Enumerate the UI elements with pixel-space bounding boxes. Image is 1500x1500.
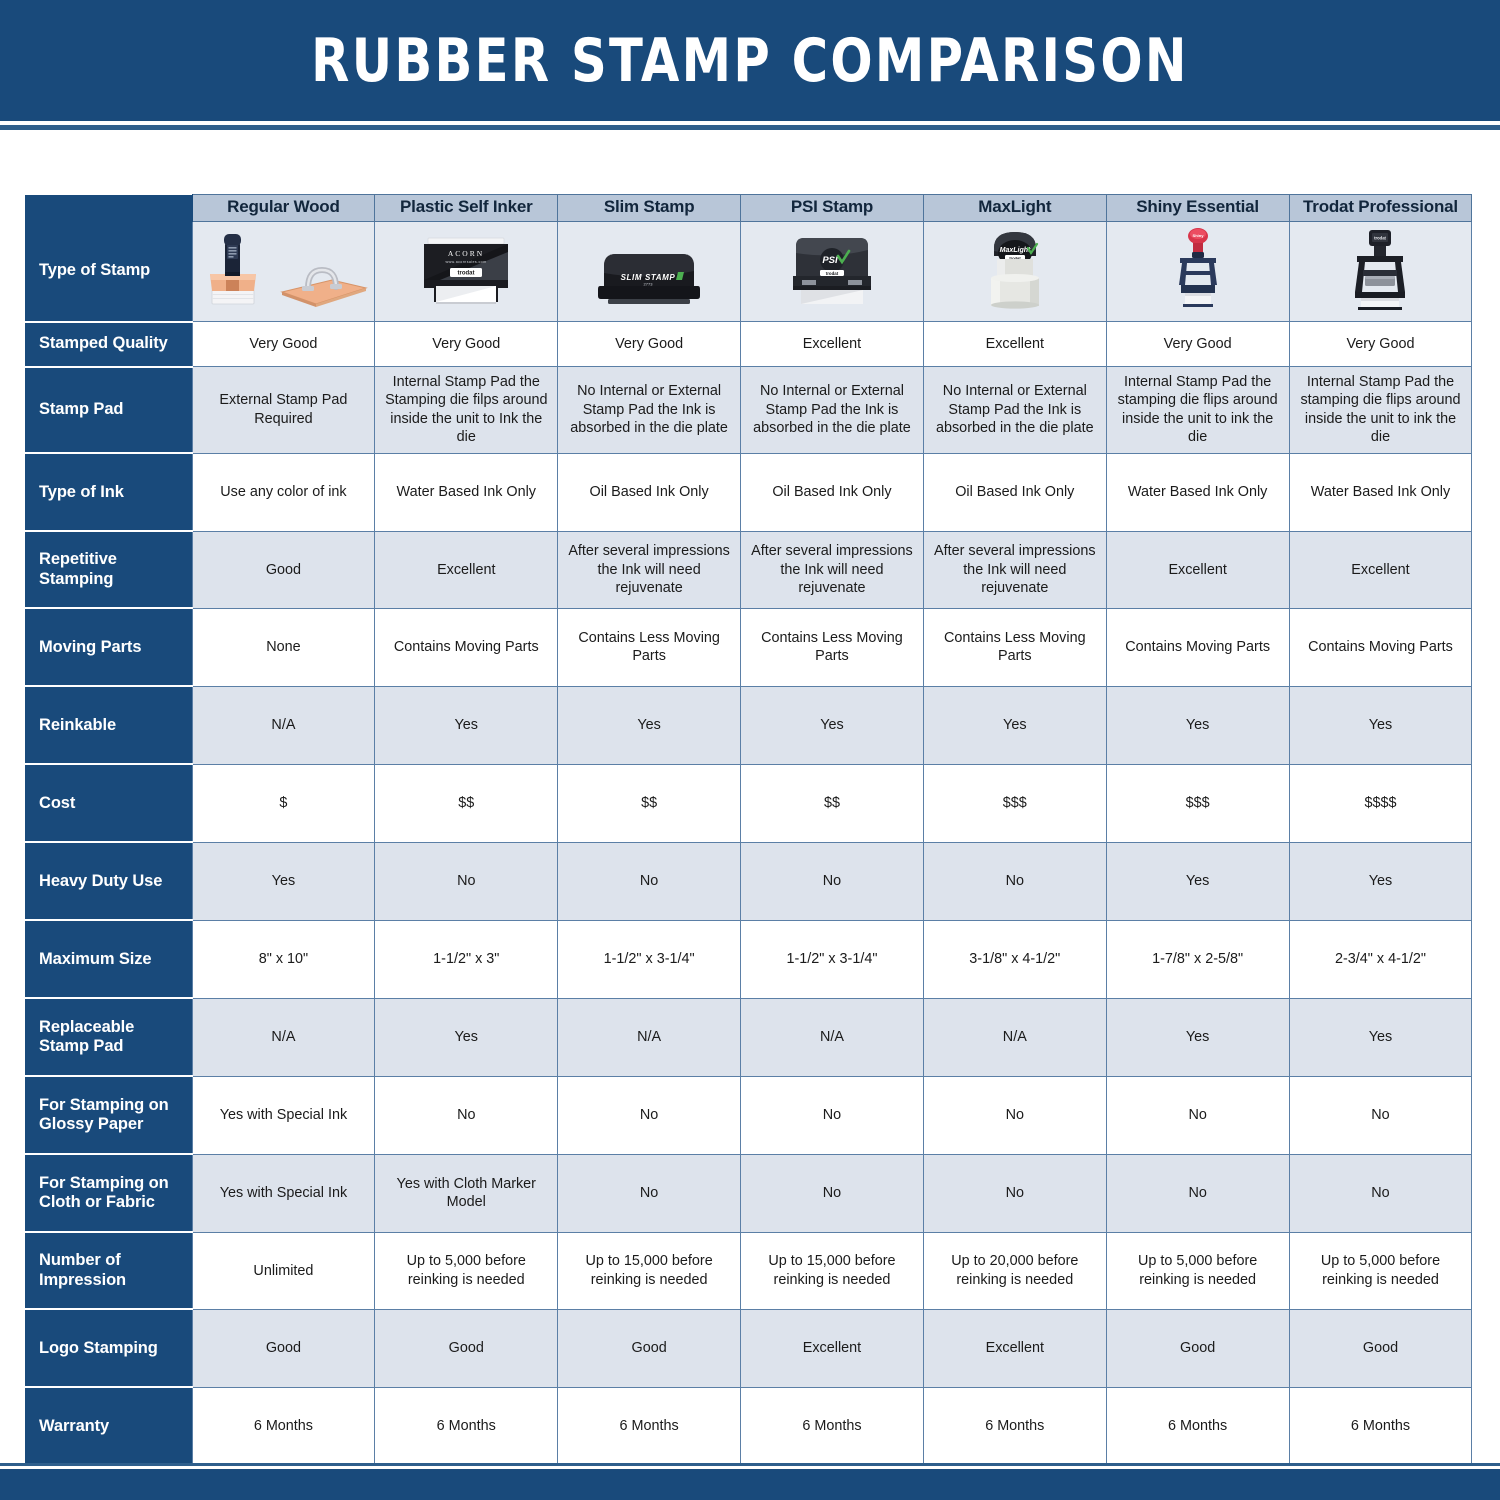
cell-logo-stamping-shiny-essential: Good: [1106, 1309, 1289, 1387]
comparison-table: Regular Wood Plastic Self Inker Slim Sta…: [25, 194, 1472, 1466]
cell-stamped-quality-psi-stamp: Excellent: [741, 322, 924, 367]
cell-warranty-regular-wood: 6 Months: [192, 1387, 375, 1465]
cell-repetitive-stamping-psi-stamp: After several impressions the Ink will n…: [741, 531, 924, 608]
slim-stamp-icon: SLIM STAMP 2773: [586, 226, 712, 312]
column-header-shiny-essential[interactable]: Shiny Essential: [1106, 195, 1289, 222]
cell-stamped-quality-shiny-essential: Very Good: [1106, 322, 1289, 367]
cell-stamp-pad-trodat-professional: Internal Stamp Pad the stamping die flip…: [1289, 367, 1472, 454]
cell-maximum-size-slim-stamp: 1-1/2" x 3-1/4": [558, 920, 741, 998]
row-label-heavy-duty-use: Heavy Duty Use: [25, 842, 192, 920]
product-image-cell-trodat-professional: trodat: [1289, 222, 1472, 322]
cell-repetitive-stamping-maxlight: After several impressions the Ink will n…: [923, 531, 1106, 608]
wood-handle-stamp-icon: [196, 226, 370, 312]
row-label-warranty: Warranty: [25, 1387, 192, 1465]
cell-cloth-fabric-maxlight: No: [923, 1154, 1106, 1232]
row-label-cost: Cost: [25, 764, 192, 842]
page-title: RUBBER STAMP COMPARISON: [311, 26, 1189, 96]
cell-logo-stamping-trodat-professional: Good: [1289, 1309, 1472, 1387]
row-label-maximum-size: Maximum Size: [25, 920, 192, 998]
shiny-essential-stamp-icon: Shiny: [1165, 226, 1231, 312]
cell-cloth-fabric-trodat-professional: No: [1289, 1154, 1472, 1232]
cell-repetitive-stamping-plastic-self-inker: Excellent: [375, 531, 558, 608]
cell-type-of-ink-plastic-self-inker: Water Based Ink Only: [375, 453, 558, 531]
row-label-repetitive-stamping: Repetitive Stamping: [25, 531, 192, 608]
cell-reinkable-trodat-professional: Yes: [1289, 686, 1472, 764]
svg-text:ACORN: ACORN: [448, 249, 484, 258]
cell-replaceable-stamp-pad-regular-wood: N/A: [192, 998, 375, 1076]
cell-moving-parts-slim-stamp: Contains Less Moving Parts: [558, 608, 741, 686]
cell-type-of-ink-trodat-professional: Water Based Ink Only: [1289, 453, 1472, 531]
cell-heavy-duty-use-slim-stamp: No: [558, 842, 741, 920]
cell-maximum-size-trodat-professional: 2-3/4" x 4-1/2": [1289, 920, 1472, 998]
cell-impressions-regular-wood: Unlimited: [192, 1232, 375, 1309]
row-label-moving-parts: Moving Parts: [25, 608, 192, 686]
cell-maximum-size-psi-stamp: 1-1/2" x 3-1/4": [741, 920, 924, 998]
cell-cost-psi-stamp: $$: [741, 764, 924, 842]
cell-cloth-fabric-regular-wood: Yes with Special Ink: [192, 1154, 375, 1232]
cell-cloth-fabric-slim-stamp: No: [558, 1154, 741, 1232]
table-row-stamped-quality: Stamped Quality Very Good Very Good Very…: [25, 322, 1472, 367]
product-image-cell-maxlight: MaxLight trodat: [923, 222, 1106, 322]
table-row-maximum-size: Maximum Size 8" x 10" 1-1/2" x 3" 1-1/2"…: [25, 920, 1472, 998]
row-label-logo-stamping: Logo Stamping: [25, 1309, 192, 1387]
cell-reinkable-slim-stamp: Yes: [558, 686, 741, 764]
product-image-cell-slim-stamp: SLIM STAMP 2773: [558, 222, 741, 322]
svg-text:trodat: trodat: [1375, 236, 1387, 241]
table-row-cost: Cost $ $$ $$ $$ $$$ $$$ $$$$: [25, 764, 1472, 842]
cell-stamped-quality-slim-stamp: Very Good: [558, 322, 741, 367]
product-image-cell-shiny-essential: Shiny: [1106, 222, 1289, 322]
cell-maximum-size-shiny-essential: 1-7/8" x 2-5/8": [1106, 920, 1289, 998]
cell-stamped-quality-trodat-professional: Very Good: [1289, 322, 1472, 367]
table-row-type-of-stamp: Type of Stamp: [25, 222, 1472, 322]
cell-repetitive-stamping-regular-wood: Good: [192, 531, 375, 608]
table-row-replaceable-stamp-pad: Replaceable Stamp Pad N/A Yes N/A N/A N/…: [25, 998, 1472, 1076]
row-label-reinkable: Reinkable: [25, 686, 192, 764]
plastic-self-inker-icon: ACORN www.acornsales.com trodat: [410, 226, 522, 312]
svg-text:2773: 2773: [644, 282, 654, 287]
cell-type-of-ink-slim-stamp: Oil Based Ink Only: [558, 453, 741, 531]
cell-impressions-psi-stamp: Up to 15,000 before reinking is needed: [741, 1232, 924, 1309]
cell-impressions-maxlight: Up to 20,000 before reinking is needed: [923, 1232, 1106, 1309]
cell-reinkable-maxlight: Yes: [923, 686, 1106, 764]
row-label-stamping-on-glossy-paper: For Stamping on Glossy Paper: [25, 1076, 192, 1154]
cell-heavy-duty-use-psi-stamp: No: [741, 842, 924, 920]
table-head: Regular Wood Plastic Self Inker Slim Sta…: [25, 195, 1472, 222]
column-header-regular-wood[interactable]: Regular Wood: [192, 195, 375, 222]
footer-bar: [0, 1469, 1500, 1500]
cell-replaceable-stamp-pad-maxlight: N/A: [923, 998, 1106, 1076]
cell-cost-shiny-essential: $$$: [1106, 764, 1289, 842]
cell-warranty-trodat-professional: 6 Months: [1289, 1387, 1472, 1465]
cell-heavy-duty-use-plastic-self-inker: No: [375, 842, 558, 920]
svg-text:PSI: PSI: [822, 255, 838, 266]
cell-replaceable-stamp-pad-trodat-professional: Yes: [1289, 998, 1472, 1076]
comparison-poster: RUBBER STAMP COMPARISON Regular Wood Pla…: [0, 0, 1500, 1500]
product-image-cell-regular-wood: [192, 222, 375, 322]
cell-logo-stamping-psi-stamp: Excellent: [741, 1309, 924, 1387]
cell-heavy-duty-use-regular-wood: Yes: [192, 842, 375, 920]
cell-maximum-size-regular-wood: 8" x 10": [192, 920, 375, 998]
table-row-stamping-on-glossy-paper: For Stamping on Glossy Paper Yes with Sp…: [25, 1076, 1472, 1154]
table-row-stamp-pad: Stamp Pad External Stamp Pad Required In…: [25, 367, 1472, 454]
svg-text:www.acornsales.com: www.acornsales.com: [446, 260, 487, 264]
cell-stamp-pad-regular-wood: External Stamp Pad Required: [192, 367, 375, 454]
cell-stamped-quality-maxlight: Excellent: [923, 322, 1106, 367]
cell-stamp-pad-maxlight: No Internal or External Stamp Pad the In…: [923, 367, 1106, 454]
title-banner: RUBBER STAMP COMPARISON: [0, 0, 1500, 121]
cell-cloth-fabric-psi-stamp: No: [741, 1154, 924, 1232]
cell-stamped-quality-plastic-self-inker: Very Good: [375, 322, 558, 367]
table-row-heavy-duty-use: Heavy Duty Use Yes No No No No Yes Yes: [25, 842, 1472, 920]
maxlight-round-stamp-icon: MaxLight trodat: [972, 226, 1058, 312]
cell-glossy-paper-slim-stamp: No: [558, 1076, 741, 1154]
svg-text:trodat: trodat: [826, 271, 839, 276]
column-header-maxlight[interactable]: MaxLight: [923, 195, 1106, 222]
cell-repetitive-stamping-trodat-professional: Excellent: [1289, 531, 1472, 608]
cell-glossy-paper-trodat-professional: No: [1289, 1076, 1472, 1154]
cell-moving-parts-shiny-essential: Contains Moving Parts: [1106, 608, 1289, 686]
cell-replaceable-stamp-pad-shiny-essential: Yes: [1106, 998, 1289, 1076]
table-row-reinkable: Reinkable N/A Yes Yes Yes Yes Yes Yes: [25, 686, 1472, 764]
psi-stamp-icon: PSI trodat: [780, 226, 884, 312]
cell-warranty-psi-stamp: 6 Months: [741, 1387, 924, 1465]
table-row-logo-stamping: Logo Stamping Good Good Good Excellent E…: [25, 1309, 1472, 1387]
cell-moving-parts-maxlight: Contains Less Moving Parts: [923, 608, 1106, 686]
column-header-slim-stamp[interactable]: Slim Stamp: [558, 195, 741, 222]
cell-repetitive-stamping-slim-stamp: After several impressions the Ink will n…: [558, 531, 741, 608]
svg-text:MaxLight: MaxLight: [999, 247, 1030, 254]
column-header-plastic-self-inker[interactable]: Plastic Self Inker: [375, 195, 558, 222]
cell-moving-parts-psi-stamp: Contains Less Moving Parts: [741, 608, 924, 686]
cell-logo-stamping-slim-stamp: Good: [558, 1309, 741, 1387]
cell-replaceable-stamp-pad-slim-stamp: N/A: [558, 998, 741, 1076]
row-label-stamping-on-cloth-or-fabric: For Stamping on Cloth or Fabric: [25, 1154, 192, 1232]
table-body: Type of Stamp: [25, 222, 1472, 1466]
product-image-cell-plastic-self-inker: ACORN www.acornsales.com trodat: [375, 222, 558, 322]
cell-cost-regular-wood: $: [192, 764, 375, 842]
cell-cost-plastic-self-inker: $$: [375, 764, 558, 842]
cell-warranty-plastic-self-inker: 6 Months: [375, 1387, 558, 1465]
svg-text:trodat: trodat: [458, 271, 475, 277]
cell-type-of-ink-psi-stamp: Oil Based Ink Only: [741, 453, 924, 531]
row-label-stamped-quality: Stamped Quality: [25, 322, 192, 367]
cell-logo-stamping-plastic-self-inker: Good: [375, 1309, 558, 1387]
trodat-professional-stamp-icon: trodat: [1343, 226, 1417, 312]
cell-stamp-pad-slim-stamp: No Internal or External Stamp Pad the In…: [558, 367, 741, 454]
table-row-stamping-on-cloth-or-fabric: For Stamping on Cloth or Fabric Yes with…: [25, 1154, 1472, 1232]
table-row-type-of-ink: Type of Ink Use any color of ink Water B…: [25, 453, 1472, 531]
cell-heavy-duty-use-shiny-essential: Yes: [1106, 842, 1289, 920]
cell-warranty-slim-stamp: 6 Months: [558, 1387, 741, 1465]
cell-type-of-ink-shiny-essential: Water Based Ink Only: [1106, 453, 1289, 531]
cell-glossy-paper-psi-stamp: No: [741, 1076, 924, 1154]
cell-reinkable-shiny-essential: Yes: [1106, 686, 1289, 764]
cell-maximum-size-maxlight: 3-1/8" x 4-1/2": [923, 920, 1106, 998]
cell-logo-stamping-regular-wood: Good: [192, 1309, 375, 1387]
table-corner-cell: [25, 195, 192, 222]
row-label-type-of-ink: Type of Ink: [25, 453, 192, 531]
cell-moving-parts-trodat-professional: Contains Moving Parts: [1289, 608, 1472, 686]
cell-stamp-pad-shiny-essential: Internal Stamp Pad the stamping die flip…: [1106, 367, 1289, 454]
row-label-stamp-pad: Stamp Pad: [25, 367, 192, 454]
table-row-moving-parts: Moving Parts None Contains Moving Parts …: [25, 608, 1472, 686]
cell-maximum-size-plastic-self-inker: 1-1/2" x 3": [375, 920, 558, 998]
cell-warranty-shiny-essential: 6 Months: [1106, 1387, 1289, 1465]
cell-glossy-paper-maxlight: No: [923, 1076, 1106, 1154]
column-header-trodat-professional[interactable]: Trodat Professional: [1289, 195, 1472, 222]
cell-reinkable-regular-wood: N/A: [192, 686, 375, 764]
cell-type-of-ink-maxlight: Oil Based Ink Only: [923, 453, 1106, 531]
cell-heavy-duty-use-maxlight: No: [923, 842, 1106, 920]
cell-cost-slim-stamp: $$: [558, 764, 741, 842]
cell-type-of-ink-regular-wood: Use any color of ink: [192, 453, 375, 531]
cell-impressions-shiny-essential: Up to 5,000 before reinking is needed: [1106, 1232, 1289, 1309]
table-row-number-of-impression: Number of Impression Unlimited Up to 5,0…: [25, 1232, 1472, 1309]
cell-heavy-duty-use-trodat-professional: Yes: [1289, 842, 1472, 920]
cell-logo-stamping-maxlight: Excellent: [923, 1309, 1106, 1387]
banner-divider-white-bottom: [0, 130, 1500, 133]
cell-moving-parts-plastic-self-inker: Contains Moving Parts: [375, 608, 558, 686]
cell-stamped-quality-regular-wood: Very Good: [192, 322, 375, 367]
row-label-type-of-stamp: Type of Stamp: [25, 222, 192, 322]
cell-reinkable-plastic-self-inker: Yes: [375, 686, 558, 764]
comparison-table-wrapper: Regular Wood Plastic Self Inker Slim Sta…: [25, 194, 1472, 1466]
column-header-row: Regular Wood Plastic Self Inker Slim Sta…: [25, 195, 1472, 222]
table-row-warranty: Warranty 6 Months 6 Months 6 Months 6 Mo…: [25, 1387, 1472, 1465]
cell-cost-maxlight: $$$: [923, 764, 1106, 842]
cell-cost-trodat-professional: $$$$: [1289, 764, 1472, 842]
cell-stamp-pad-psi-stamp: No Internal or External Stamp Pad the In…: [741, 367, 924, 454]
cell-repetitive-stamping-shiny-essential: Excellent: [1106, 531, 1289, 608]
cell-replaceable-stamp-pad-psi-stamp: N/A: [741, 998, 924, 1076]
cell-cloth-fabric-plastic-self-inker: Yes with Cloth Marker Model: [375, 1154, 558, 1232]
cell-impressions-plastic-self-inker: Up to 5,000 before reinking is needed: [375, 1232, 558, 1309]
row-label-replaceable-stamp-pad: Replaceable Stamp Pad: [25, 998, 192, 1076]
cell-moving-parts-regular-wood: None: [192, 608, 375, 686]
product-image-cell-psi-stamp: PSI trodat: [741, 222, 924, 322]
row-label-number-of-impression: Number of Impression: [25, 1232, 192, 1309]
cell-reinkable-psi-stamp: Yes: [741, 686, 924, 764]
cell-cloth-fabric-shiny-essential: No: [1106, 1154, 1289, 1232]
column-header-psi-stamp[interactable]: PSI Stamp: [741, 195, 924, 222]
cell-replaceable-stamp-pad-plastic-self-inker: Yes: [375, 998, 558, 1076]
cell-impressions-trodat-professional: Up to 5,000 before reinking is needed: [1289, 1232, 1472, 1309]
cell-impressions-slim-stamp: Up to 15,000 before reinking is needed: [558, 1232, 741, 1309]
cell-stamp-pad-plastic-self-inker: Internal Stamp Pad the Stamping die filp…: [375, 367, 558, 454]
cell-glossy-paper-shiny-essential: No: [1106, 1076, 1289, 1154]
cell-glossy-paper-plastic-self-inker: No: [375, 1076, 558, 1154]
cell-glossy-paper-regular-wood: Yes with Special Ink: [192, 1076, 375, 1154]
table-row-repetitive-stamping: Repetitive Stamping Good Excellent After…: [25, 531, 1472, 608]
svg-text:Shiny: Shiny: [1192, 233, 1204, 238]
cell-warranty-maxlight: 6 Months: [923, 1387, 1106, 1465]
